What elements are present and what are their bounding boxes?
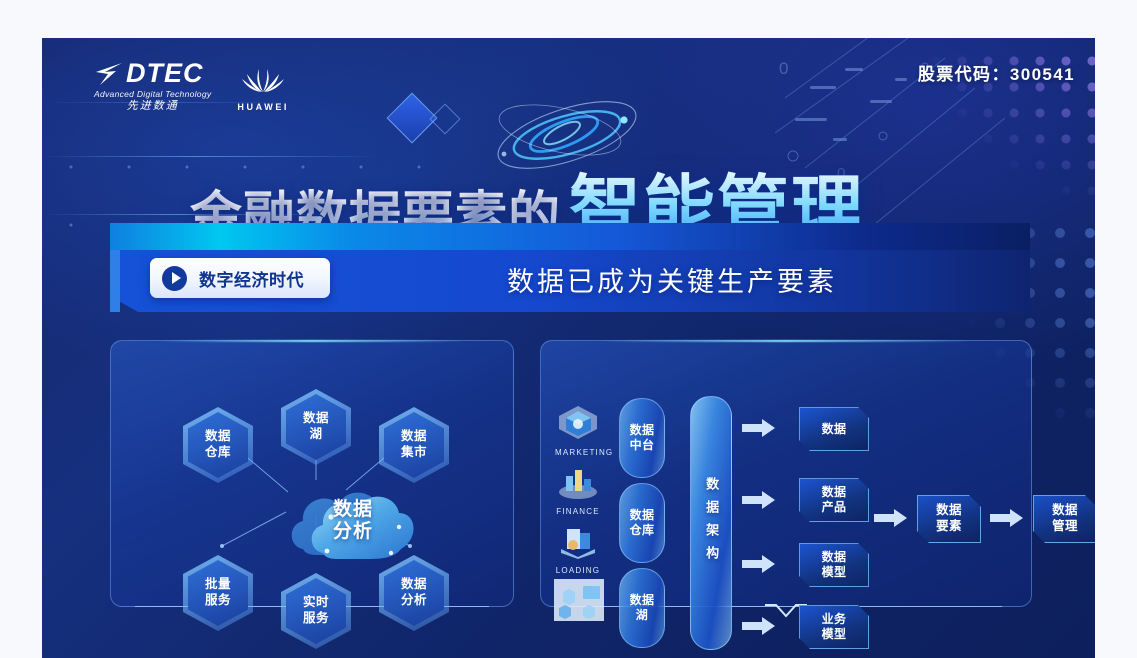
output-business-model[interactable]: 业务 模型: [799, 605, 869, 649]
pill-label: 数据: [630, 593, 655, 607]
source-marketing[interactable]: MARKETING: [555, 403, 601, 457]
stock-code: 股票代码：300541: [918, 60, 1075, 85]
source-label: FINANCE: [555, 507, 601, 516]
pill-label: 中台: [630, 438, 655, 452]
final-data-element[interactable]: 数据 要素: [917, 495, 981, 543]
pillar-label: 数据架构: [704, 477, 718, 569]
node-label: 服务: [303, 611, 329, 625]
right-diagram-panel: [540, 340, 1032, 607]
pill-label: 仓库: [630, 523, 655, 537]
logo-group: DTEC Advanced Digital Technology 先进数通 HU…: [94, 60, 289, 112]
pill-data-lake[interactable]: 数据 湖: [619, 568, 665, 648]
output-data-model[interactable]: 数据 模型: [799, 543, 869, 587]
huawei-logo: HUAWEI: [237, 65, 289, 112]
arrow-right-icon: [990, 508, 1024, 528]
huawei-name: HUAWEI: [237, 102, 289, 112]
era-badge[interactable]: 数字经济时代: [150, 258, 330, 298]
output-label: 模型: [822, 627, 847, 641]
arrow-right-icon: [874, 508, 908, 528]
node-label: 实时: [303, 595, 329, 609]
huawei-flower-icon: [241, 65, 285, 93]
node-data-mart[interactable]: 数据 集市: [379, 407, 449, 483]
band-accent: [110, 250, 120, 312]
dtec-chinese-name: 先进数通: [94, 101, 211, 112]
node-label: 集市: [401, 445, 427, 459]
cloud-data-analysis[interactable]: 数据 分析: [287, 473, 419, 573]
node-data-lake[interactable]: 数据 湖: [281, 389, 351, 465]
output-label: 业务: [822, 612, 847, 626]
pill-data-midend[interactable]: 数据 中台: [619, 398, 665, 478]
arrow-right-icon: [742, 554, 776, 574]
arrow-right-icon: [742, 616, 776, 636]
play-icon: [162, 266, 187, 291]
svg-text:0: 0: [779, 59, 788, 78]
dtec-tagline: Advanced Digital Technology: [94, 90, 211, 99]
pill-data-warehouse[interactable]: 数据 仓库: [619, 483, 665, 563]
node-label: 仓库: [205, 445, 231, 459]
final-label: 管理: [1052, 519, 1078, 533]
node-label: 湖: [309, 427, 322, 441]
pill-label: 数据: [630, 423, 655, 437]
node-realtime-service[interactable]: 实时 服务: [281, 573, 351, 649]
source-finance[interactable]: FINANCE: [555, 462, 601, 516]
diamond-decoration: [429, 103, 460, 134]
arrow-right-icon: [742, 418, 776, 438]
output-label: 数据: [822, 485, 847, 499]
output-label: 产品: [822, 500, 847, 514]
output-label: 模型: [822, 565, 847, 579]
node-label: 服务: [205, 593, 231, 607]
node-label: 分析: [401, 593, 427, 607]
era-badge-label: 数字经济时代: [199, 266, 304, 291]
pill-label: 湖: [636, 608, 648, 622]
subtitle-band-top: [110, 223, 1030, 253]
arrow-right-icon: [742, 490, 776, 510]
node-batch-service[interactable]: 批量 服务: [183, 555, 253, 631]
node-data-warehouse[interactable]: 数据 仓库: [183, 407, 253, 483]
node-label: 数据: [401, 577, 427, 591]
finance-chart-icon: [555, 462, 601, 500]
output-data[interactable]: 数据: [799, 407, 869, 451]
dtec-name: DTEC: [126, 60, 204, 87]
node-label: 数据: [401, 429, 427, 443]
final-label: 数据: [1052, 503, 1078, 517]
source-label: LOADING: [555, 566, 601, 575]
dtec-logo: DTEC Advanced Digital Technology 先进数通: [94, 60, 211, 112]
subtitle-headline: 数据已成为关键生产要素: [507, 260, 837, 299]
source-extra[interactable]: [553, 578, 605, 629]
slide-canvas: 0 0 DTEC Advanced Digital Technology 先进数…: [42, 38, 1095, 658]
loading-box-icon: [555, 521, 601, 559]
source-label: MARKETING: [555, 448, 601, 457]
pill-label: 数据: [630, 508, 655, 522]
output-label: 数据: [822, 422, 847, 436]
output-label: 数据: [822, 550, 847, 564]
data-devices-icon: [553, 578, 605, 622]
node-label: 批量: [205, 577, 231, 591]
dtec-mark-icon: [94, 61, 124, 87]
final-data-management[interactable]: 数据 管理: [1033, 495, 1095, 543]
marketing-cube-icon: [555, 403, 601, 441]
pillar-data-architecture[interactable]: 数据架构: [690, 396, 732, 650]
source-loading[interactable]: LOADING: [555, 521, 601, 575]
final-label: 要素: [936, 519, 962, 533]
final-label: 数据: [936, 503, 962, 517]
node-label: 数据: [205, 429, 231, 443]
output-data-product[interactable]: 数据 产品: [799, 478, 869, 522]
node-label: 数据: [303, 411, 329, 425]
cloud-label: 数据 分析: [287, 499, 419, 543]
